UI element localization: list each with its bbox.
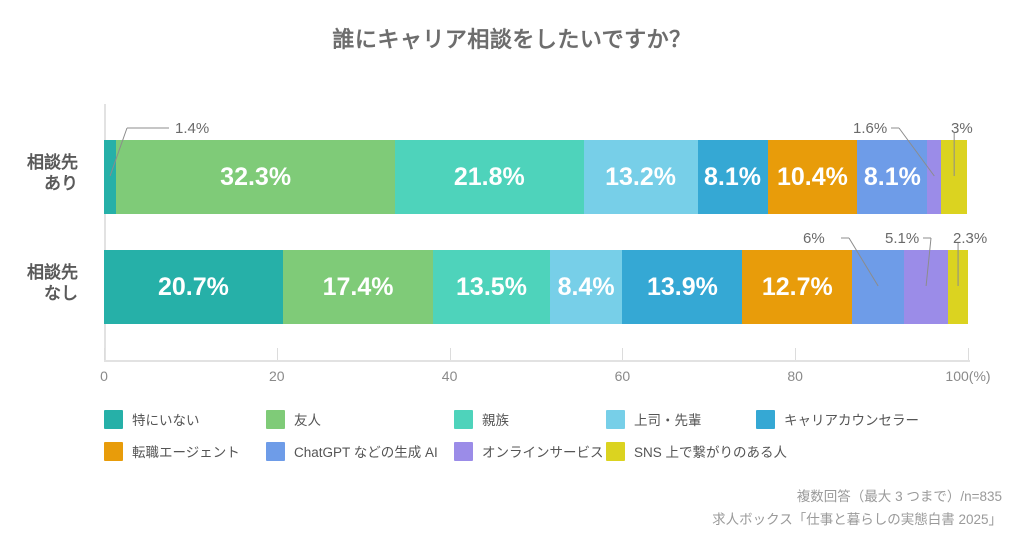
bar-segment: 10.4% xyxy=(768,140,858,214)
legend-swatch-icon xyxy=(266,410,285,429)
bar-segment: 17.4% xyxy=(283,250,433,324)
legend-swatch-icon xyxy=(104,410,123,429)
legend-swatch-icon xyxy=(454,410,473,429)
table-row: 20.7%17.4%13.5%8.4%13.9%12.7% xyxy=(104,250,968,324)
x-axis-tick-label: 20 xyxy=(269,368,285,384)
x-axis-tick xyxy=(968,348,969,360)
bar-segment xyxy=(927,140,941,214)
legend-item[interactable]: 上司・先輩 xyxy=(606,406,756,432)
table-row: 32.3%21.8%13.2%8.1%10.4%8.1% xyxy=(104,140,968,214)
legend-item[interactable]: SNS 上で繋がりのある人 xyxy=(606,438,756,464)
legend-label: SNS 上で繋がりのある人 xyxy=(634,441,787,461)
bar-segment: 13.2% xyxy=(584,140,698,214)
callout-label: 1.6% xyxy=(853,120,887,137)
bar-segment xyxy=(104,140,116,214)
category-label-soudansaki-ari: 相談先あり xyxy=(0,152,78,195)
legend-label: ChatGPT などの生成 AI xyxy=(294,441,438,461)
legend-swatch-icon xyxy=(454,442,473,461)
footer-line-1: 複数回答（最大 3 つまで）/n=835 xyxy=(712,486,1002,509)
legend-swatch-icon xyxy=(606,442,625,461)
legend-label: オンラインサービス xyxy=(482,441,604,461)
bar-segment xyxy=(852,250,904,324)
bar-segment: 32.3% xyxy=(116,140,395,214)
bar-segment xyxy=(948,250,968,324)
footer-note: 複数回答（最大 3 つまで）/n=835 求人ボックス「仕事と暮らしの実態白書 … xyxy=(712,486,1002,532)
category-label-line: 相談先 xyxy=(0,262,78,283)
x-axis-line xyxy=(104,360,970,362)
x-axis-tick-label: 60 xyxy=(615,368,631,384)
chart-title: 誰にキャリア相談をしたいですか？ xyxy=(0,22,1024,54)
legend-label: 親族 xyxy=(482,409,509,429)
bar-segment xyxy=(941,140,967,214)
bar-segment: 12.7% xyxy=(742,250,852,324)
legend-label: 上司・先輩 xyxy=(634,409,702,429)
callout-label: 1.4% xyxy=(175,120,209,137)
callout-label: 6% xyxy=(803,230,825,247)
bar-segment: 13.9% xyxy=(622,250,742,324)
x-axis-tick-label: 100(%) xyxy=(945,368,990,384)
bar-segment: 20.7% xyxy=(104,250,283,324)
legend-item[interactable]: 親族 xyxy=(454,406,606,432)
bar-segment: 21.8% xyxy=(395,140,583,214)
legend-label: 転職エージェント xyxy=(132,441,240,461)
legend-item[interactable]: キャリアカウンセラー xyxy=(756,406,976,432)
x-axis-tick-label: 40 xyxy=(442,368,458,384)
legend-item[interactable]: ChatGPT などの生成 AI xyxy=(266,438,454,464)
legend-swatch-icon xyxy=(266,442,285,461)
category-label-line: 相談先 xyxy=(0,152,78,173)
category-label-line: なし xyxy=(0,283,78,304)
legend-label: 特にいない xyxy=(132,409,200,429)
legend-item[interactable]: オンラインサービス xyxy=(454,438,606,464)
callout-label: 2.3% xyxy=(953,230,987,247)
legend-item[interactable]: 転職エージェント xyxy=(104,438,266,464)
chart-root: 誰にキャリア相談をしたいですか？ 020406080100(%) 相談先あり相談… xyxy=(0,0,1024,546)
bar-segment: 8.1% xyxy=(857,140,927,214)
callout-label: 3% xyxy=(951,120,973,137)
legend-swatch-icon xyxy=(104,442,123,461)
plot-area: 32.3%21.8%13.2%8.1%10.4%8.1% 20.7%17.4%1… xyxy=(104,104,968,358)
chart-legend: 特にいない友人親族上司・先輩キャリアカウンセラー転職エージェントChatGPT … xyxy=(104,406,984,464)
bar-segment xyxy=(904,250,948,324)
category-label-soudansaki-nashi: 相談先なし xyxy=(0,262,78,305)
callout-label: 5.1% xyxy=(885,230,919,247)
legend-swatch-icon xyxy=(606,410,625,429)
x-axis-tick-label: 80 xyxy=(787,368,803,384)
bar-segment: 8.1% xyxy=(698,140,768,214)
legend-label: キャリアカウンセラー xyxy=(784,409,919,429)
category-label-line: あり xyxy=(0,173,78,194)
legend-label: 友人 xyxy=(294,409,321,429)
x-axis-tick-label: 0 xyxy=(100,368,108,384)
bar-segment: 13.5% xyxy=(433,250,550,324)
bar-segment: 8.4% xyxy=(550,250,623,324)
footer-line-2: 求人ボックス「仕事と暮らしの実態白書 2025」 xyxy=(712,509,1002,532)
legend-item[interactable]: 友人 xyxy=(266,406,454,432)
legend-item[interactable]: 特にいない xyxy=(104,406,266,432)
legend-swatch-icon xyxy=(756,410,775,429)
